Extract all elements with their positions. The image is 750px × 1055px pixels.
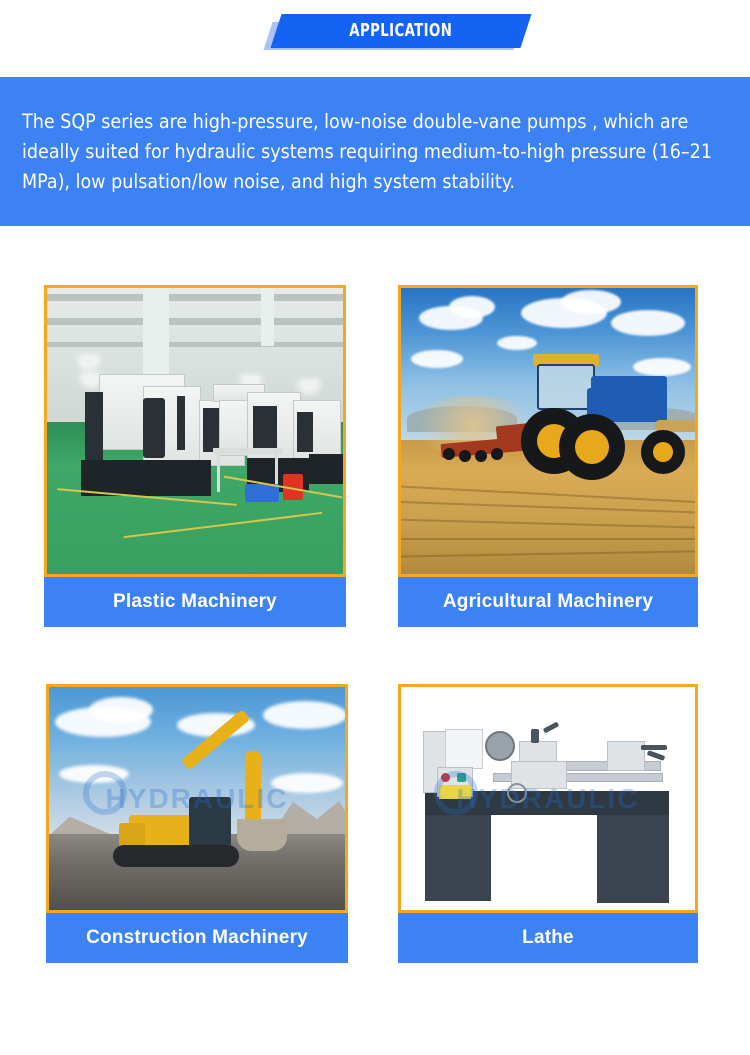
card-label: Plastic Machinery [44,577,346,627]
application-card[interactable]: HYDRAULIC Construction Machinery [46,684,348,963]
application-card[interactable]: HYDRAULIC Lathe [398,684,698,963]
application-section-page: APPLICATION The SQP series are high-pres… [0,0,750,1055]
application-card-grid: Plastic Machinery [0,226,750,1055]
description-panel: The SQP series are high-pressure, low-no… [0,77,750,226]
card-label-text: Construction Machinery [86,927,308,949]
card-label: Lathe [398,913,698,963]
agricultural-machinery-image [401,288,695,574]
construction-machinery-image: HYDRAULIC [49,687,345,910]
card-image-frame: HYDRAULIC [46,684,348,913]
card-label: Construction Machinery [46,913,348,963]
card-label-text: Agricultural Machinery [443,591,653,613]
card-image-frame: HYDRAULIC [398,684,698,913]
lathe-image: HYDRAULIC [401,687,695,910]
application-card[interactable]: Plastic Machinery [44,285,346,627]
card-image-frame [44,285,346,577]
card-label-text: Lathe [522,927,574,949]
banner-parallelogram: APPLICATION [270,14,531,48]
plastic-machinery-image [47,288,343,574]
application-card[interactable]: Agricultural Machinery [398,285,698,627]
card-image-frame [398,285,698,577]
card-label: Agricultural Machinery [398,577,698,627]
card-label-text: Plastic Machinery [113,591,277,613]
section-banner: APPLICATION [0,0,750,77]
section-title: APPLICATION [350,22,453,40]
description-text: The SQP series are high-pressure, low-no… [0,107,750,197]
